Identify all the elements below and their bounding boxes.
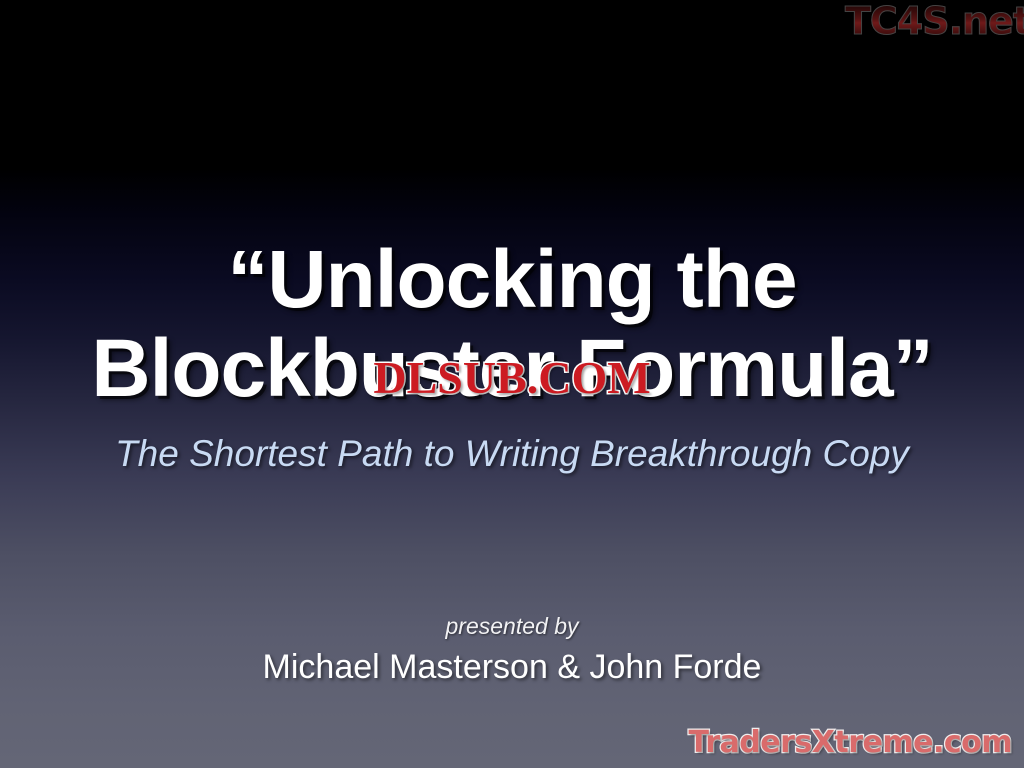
slide-title-line-1: “Unlocking the (0, 236, 1024, 325)
watermark-dlsub-com: DLSUB.COM (373, 355, 650, 401)
slide-subtitle: The Shortest Path to Writing Breakthroug… (0, 433, 1024, 475)
presented-by-label: presented by (0, 612, 1024, 641)
presenter-block: presented by Michael Masterson & John Fo… (0, 612, 1024, 689)
presentation-slide: TC4S.net “Unlocking the Blockbuster Form… (0, 0, 1024, 768)
watermark-tradersxtreme-com: TradersXtreme.com (689, 728, 1012, 758)
watermark-tc4s-net: TC4S.net (845, 2, 1024, 40)
presenter-names: Michael Masterson & John Forde (0, 645, 1024, 689)
